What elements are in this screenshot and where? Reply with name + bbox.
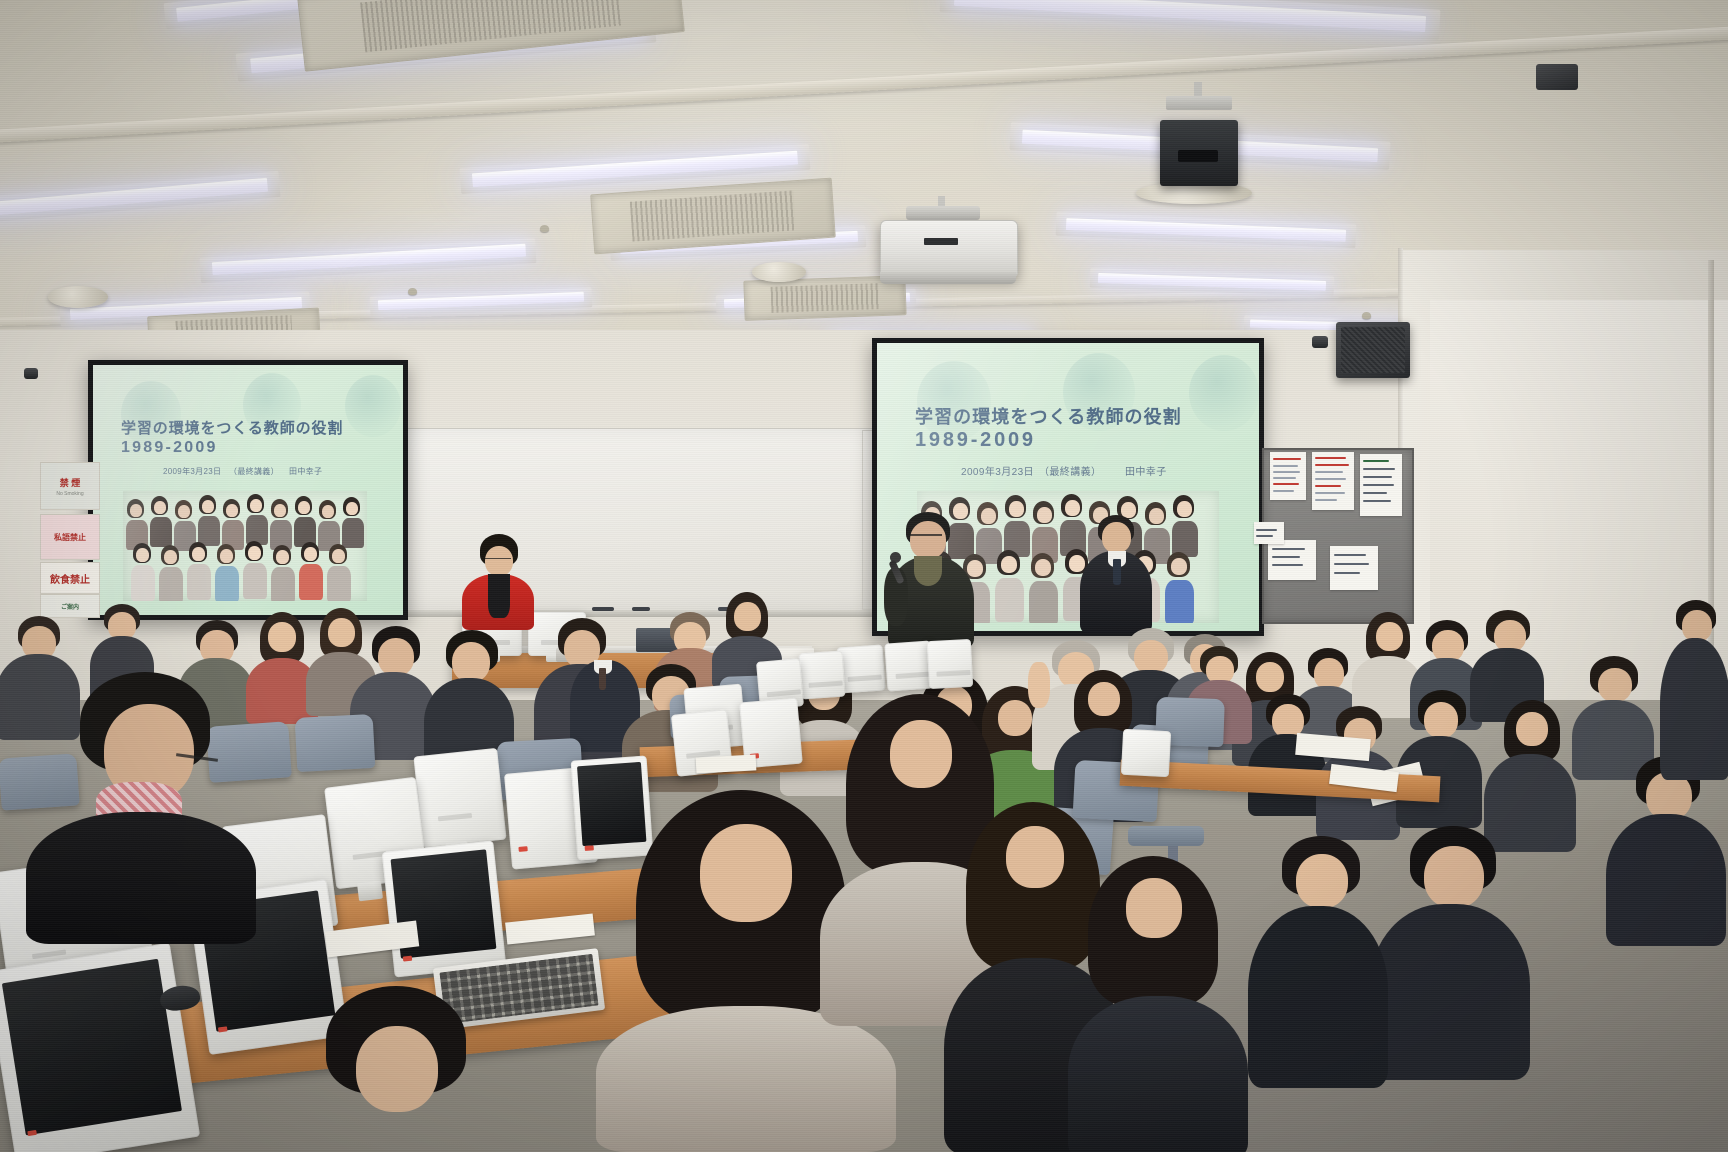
torso: [596, 1006, 896, 1152]
projector-lens-dark: [1178, 150, 1218, 162]
computer-monitor-screen-on: [0, 943, 200, 1152]
ceiling-speaker: [48, 286, 108, 308]
glasses-icon: [485, 558, 511, 559]
slide-date: 2009年3月23日: [163, 466, 221, 477]
security-camera-icon: [24, 368, 38, 379]
man-in-suit: [1078, 515, 1156, 633]
head: [485, 546, 513, 576]
glasses-icon: [910, 534, 942, 536]
slide-title: 学習の環境をつくる教師の役割: [121, 417, 343, 438]
head: [1126, 878, 1182, 938]
computer-monitor: [927, 639, 973, 689]
notice-sheet: [1270, 452, 1306, 500]
inner-top: [488, 574, 510, 618]
wall-sign-text: ご案内: [61, 602, 79, 611]
slide-years: 1989-2009: [915, 429, 1036, 452]
audience-member-foreground: [290, 986, 500, 1152]
notice-sheet: [1312, 452, 1354, 510]
projector-vent-slot: [924, 238, 958, 245]
audience-member: [1396, 690, 1482, 826]
wall-sign-subtext: No Smoking: [56, 491, 83, 497]
computer-monitor: [798, 651, 845, 700]
audience-member-foreground: [1068, 856, 1248, 1152]
ceiling-projector: [880, 220, 1018, 278]
wall-sign-text: 禁 煙: [60, 476, 81, 489]
slide-decor-blob: [1189, 355, 1259, 431]
head: [356, 1026, 438, 1112]
audience-member: [1370, 826, 1530, 1076]
whiteboard-marker: [632, 607, 650, 611]
torso: [26, 812, 256, 944]
chair: [295, 714, 376, 772]
slide-title: 学習の環境をつくる教師の役割: [915, 403, 1182, 429]
slide-decor-blob: [345, 375, 401, 437]
raised-arm: [1028, 662, 1050, 708]
torso: [1068, 996, 1248, 1152]
head: [700, 824, 792, 922]
head: [1102, 522, 1131, 553]
wall-sign-no-food: 飲食禁止: [40, 562, 100, 594]
audience-member-foreground: [26, 672, 256, 932]
woman-in-red-jacket: [462, 534, 534, 620]
wall-speaker: [1336, 322, 1410, 378]
projector-mount: [906, 206, 980, 220]
audience-member: [1248, 836, 1388, 1086]
ceiling-corner-speaker: [1536, 64, 1578, 90]
sprinkler-head: [408, 288, 417, 295]
lecture-hall-photo: 学習の環境をつくる教師の役割 1989-2009 2009年3月23日 （最終講…: [0, 0, 1728, 1152]
projector-mount: [1166, 96, 1232, 110]
computer-monitor: [1121, 729, 1171, 777]
projector-shadow: [880, 272, 1016, 284]
wall-sign-no-talking: 私語禁止: [40, 514, 100, 560]
monitor-stand: [357, 881, 383, 902]
ceiling-speaker: [752, 262, 806, 282]
speaker-with-microphone: [884, 512, 980, 644]
head: [910, 521, 946, 559]
slide-date: 2009年3月23日: [961, 463, 1034, 478]
left-projection-screen: 学習の環境をつくる教師の役割 1989-2009 2009年3月23日 （最終講…: [88, 360, 408, 620]
notice-sheet: [1360, 454, 1402, 516]
slide-occasion: （最終講義）: [1039, 463, 1101, 478]
security-camera-icon: [1312, 336, 1328, 348]
wall-placard: [1254, 522, 1284, 544]
wall-sign-text: 私語禁止: [54, 532, 86, 543]
sprinkler-head: [540, 225, 549, 232]
slide-presenter: 田中幸子: [289, 466, 322, 477]
slide-presenter: 田中幸子: [1125, 463, 1167, 478]
whiteboard-marker: [592, 607, 614, 611]
notice-sheet: [1330, 546, 1378, 590]
head: [1006, 826, 1064, 888]
necktie: [1113, 559, 1121, 585]
slide-group-photo: [123, 491, 367, 601]
slide-occasion: （最終講義）: [229, 466, 279, 477]
wall-sign-no-smoking: 禁 煙 No Smoking: [40, 462, 100, 510]
computer-monitor: [413, 748, 506, 848]
audience-member-standing: [1660, 600, 1728, 780]
notice-sheet: [1268, 540, 1316, 580]
wall-sign-text: 飲食禁止: [50, 571, 90, 586]
slide-years: 1989-2009: [121, 439, 218, 457]
audience-member: [1606, 756, 1726, 946]
sprinkler-head: [1362, 312, 1371, 319]
head: [890, 720, 952, 788]
jacket-collar: [914, 556, 942, 586]
handout-paper: [696, 754, 757, 773]
chair-seat: [1128, 826, 1204, 846]
computer-monitor-screen-on: [382, 840, 507, 977]
